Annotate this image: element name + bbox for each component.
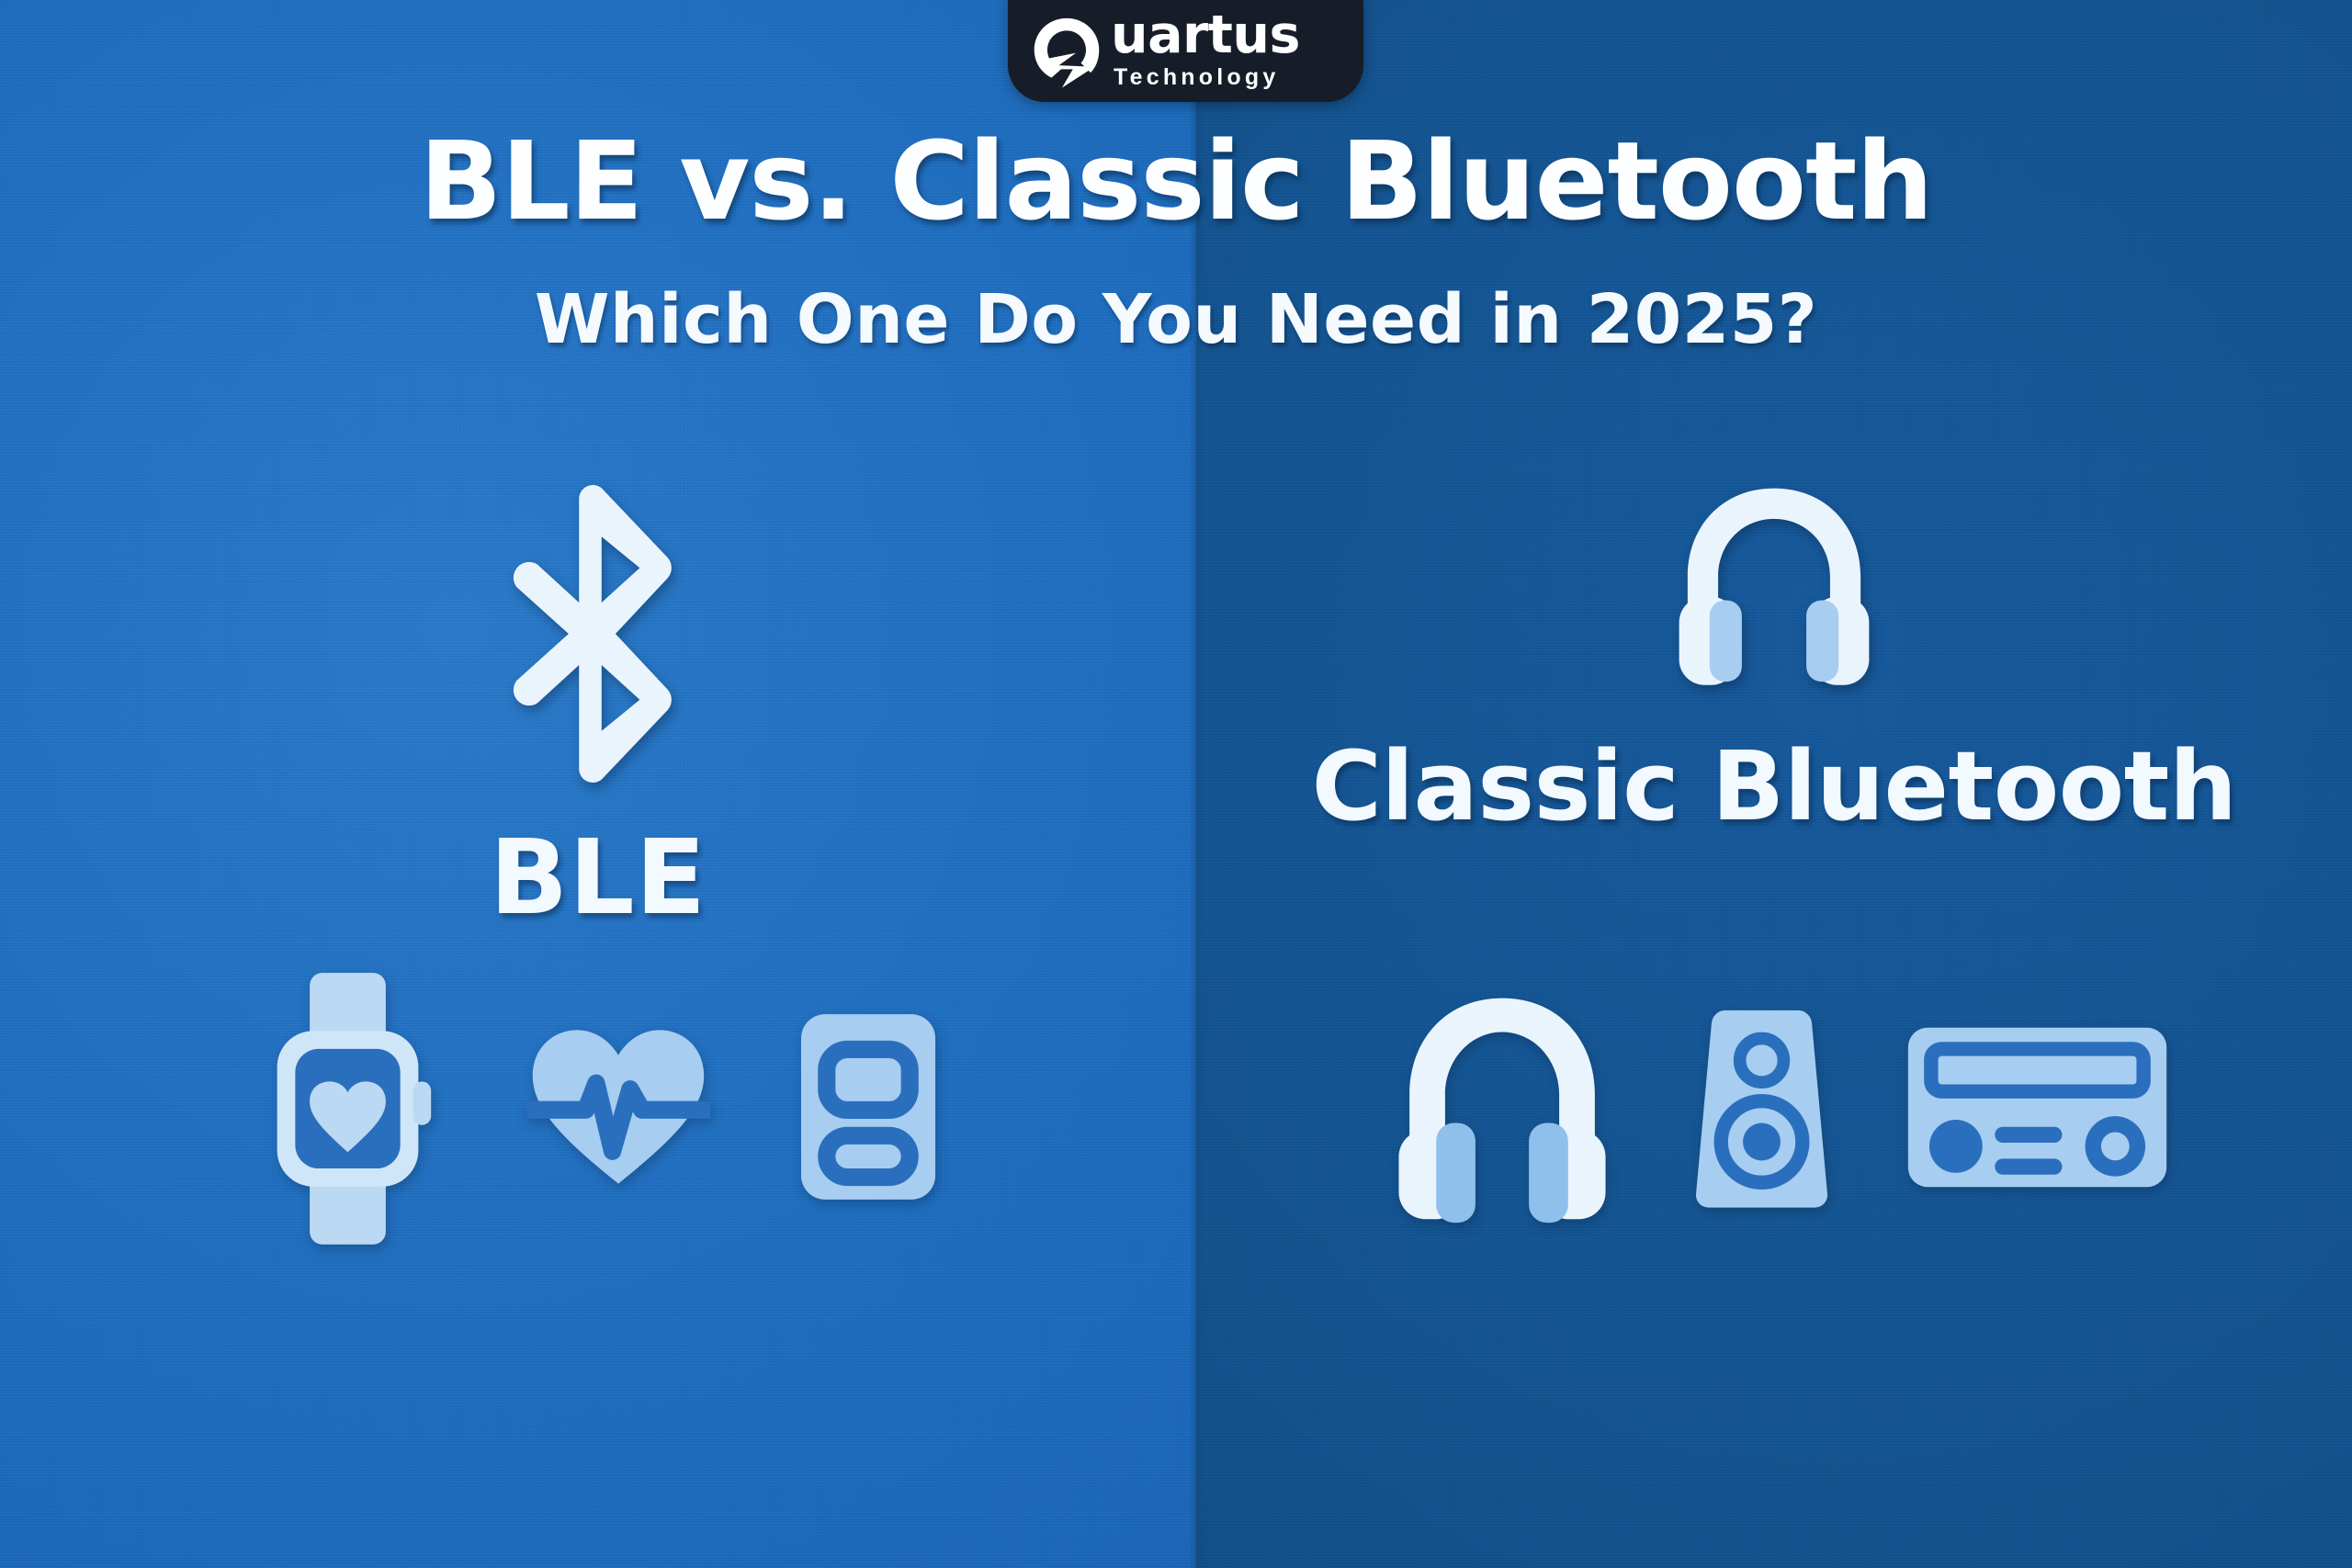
headphones-icon <box>1383 987 1622 1231</box>
bluetooth-rune-icon <box>492 478 704 795</box>
brand-name-text: uartus <box>1111 9 1300 62</box>
quartus-q-mark-icon <box>1028 13 1105 90</box>
headphones-icon <box>1664 478 1884 694</box>
panel-classic-bluetooth: Classic Bluetooth <box>1196 478 2352 842</box>
beacon-tag-icon <box>795 1006 942 1213</box>
smartwatch-icon <box>254 969 442 1249</box>
panel-label-ble: BLE <box>490 818 707 938</box>
brand-logo-badge[interactable]: uartus Technology <box>1008 0 1363 102</box>
ble-device-row <box>138 969 1057 1249</box>
infographic-canvas: uartus Technology BLE vs. Classic Blueto… <box>0 0 2352 1568</box>
page-title: BLE vs. Classic Bluetooth <box>0 118 2352 244</box>
page-subtitle: Which One Do You Need in 2025? <box>0 280 2352 359</box>
brand-tagline-text: Technology <box>1111 66 1300 89</box>
panel-ble: BLE <box>0 478 1196 938</box>
heart-rate-icon <box>526 1024 710 1194</box>
car-stereo-icon <box>1902 1022 2173 1197</box>
speaker-icon <box>1686 1004 1837 1215</box>
classic-device-row <box>1277 987 2278 1231</box>
panel-label-classic: Classic Bluetooth <box>1312 730 2237 842</box>
